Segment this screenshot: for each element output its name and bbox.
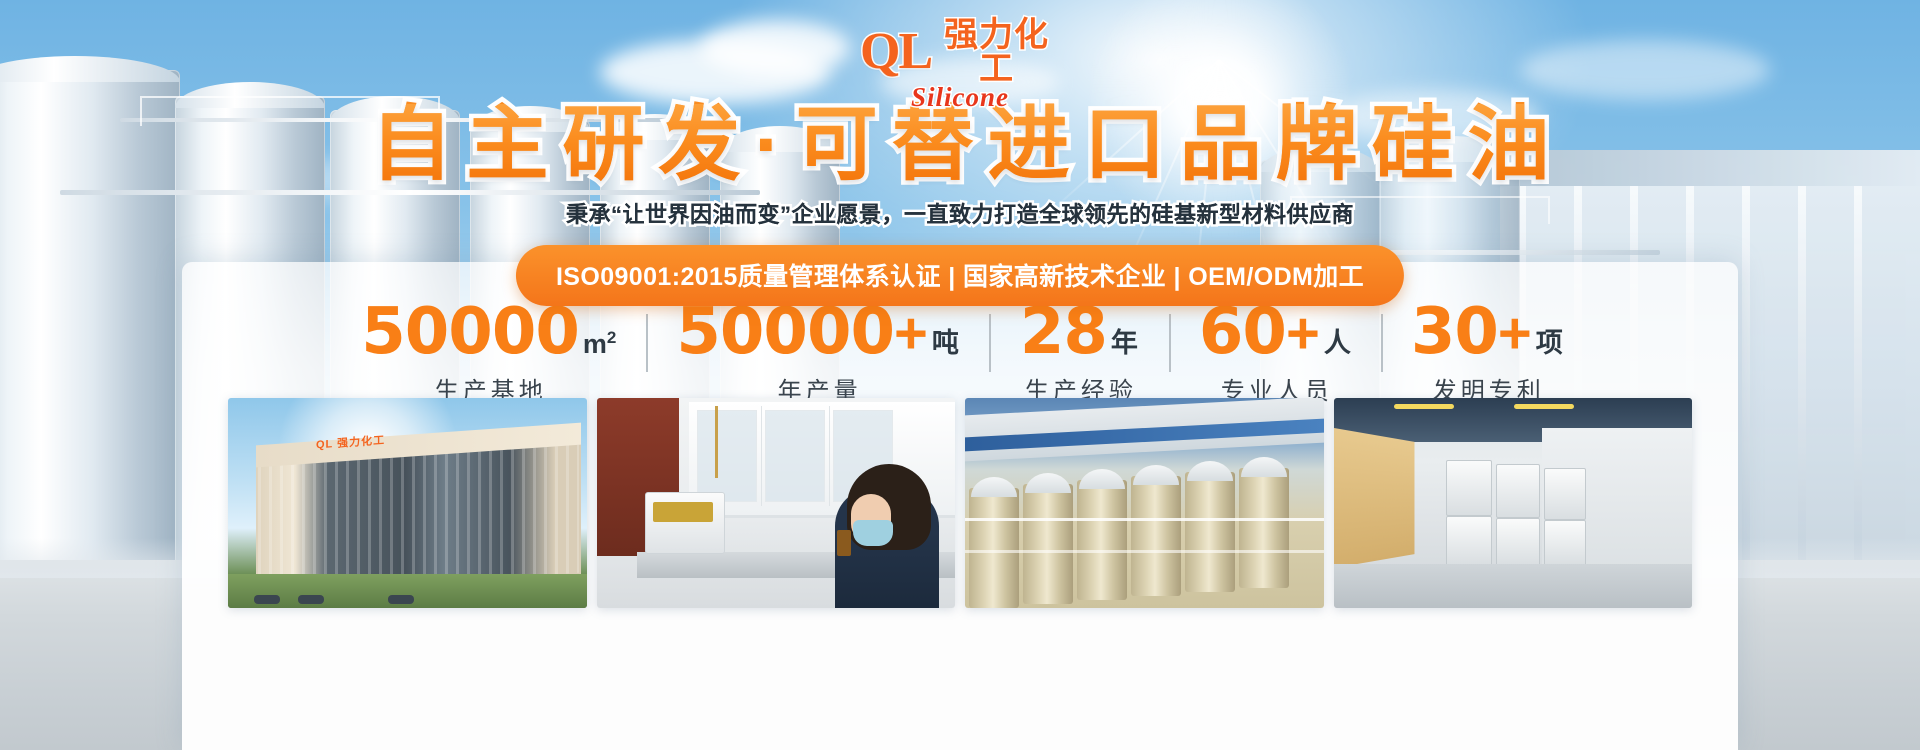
building-column <box>1742 186 1750 570</box>
stat-number: 50000 <box>676 300 894 364</box>
pipe <box>60 190 760 195</box>
office-building-photo[interactable]: QL 强力化工 <box>228 398 587 608</box>
stat-value-group: 28 年 <box>1020 300 1138 364</box>
process-tank <box>1023 484 1073 604</box>
logo-primary-row: QL 强力化工 <box>860 18 1060 86</box>
stat-value-group: 50000 m2 <box>361 300 616 364</box>
building-column <box>1798 186 1806 570</box>
stat-item-patents: 30 + 项 发明专利 <box>1381 300 1593 406</box>
stat-plus-sign: + <box>1286 305 1320 363</box>
service-walkway <box>965 550 1324 553</box>
pallet-stack-left <box>1334 428 1414 568</box>
stat-unit-superscript: 2 <box>607 328 616 347</box>
stat-value-group: 60 + 人 <box>1199 300 1351 364</box>
stat-number: 60 <box>1199 300 1286 364</box>
headline-stroke: 自主研发·可替进口品牌硅油 <box>0 104 1920 186</box>
stat-value-group: 50000 + 吨 <box>676 300 959 364</box>
ibc-tote <box>1446 460 1492 516</box>
company-logo[interactable]: QL 强力化工 Silicone <box>860 18 1060 104</box>
parked-car <box>388 595 414 604</box>
stat-value-group: 30 + 项 <box>1411 300 1563 364</box>
cabinet-divider <box>829 406 830 506</box>
logo-company-name-cn: 强力化工 <box>933 18 1060 86</box>
stat-item-production-base: 50000 m2 生产基地 <box>331 300 646 406</box>
cabinet-glass-pane <box>765 410 825 502</box>
subtitle-stroke: 秉承“让世界因油而变”企业愿景，一直致力打造全球领先的硅基新型材料供应商 <box>0 197 1920 229</box>
ibc-tote <box>1446 516 1492 566</box>
process-tank <box>969 488 1019 608</box>
ibc-tote <box>1544 520 1586 566</box>
stat-unit-base: m <box>583 329 607 359</box>
stat-item-staff: 60 + 人 专业人员 <box>1169 300 1381 406</box>
laboratory-testing-photo[interactable] <box>597 398 956 608</box>
process-tank <box>1077 480 1127 600</box>
stat-plus-sign: + <box>1498 305 1532 363</box>
logo-tagline-silicone: Silicone <box>860 82 1060 113</box>
stat-number: 50000 <box>361 300 579 364</box>
ibc-tote <box>1496 518 1540 566</box>
process-tank <box>1239 468 1289 588</box>
parked-car <box>298 595 324 604</box>
stat-number: 28 <box>1020 300 1107 364</box>
face-mask-icon <box>853 520 893 546</box>
cloud <box>1520 40 1770 100</box>
stat-item-annual-output: 50000 + 吨 年产量 <box>646 300 989 406</box>
ibc-tote <box>1496 464 1540 518</box>
stat-unit: 年 <box>1111 321 1138 364</box>
warehouse-storage-photo[interactable] <box>1334 398 1693 608</box>
stat-number: 30 <box>1411 300 1498 364</box>
stat-unit-base: 项 <box>1536 328 1563 358</box>
stat-unit: 人 <box>1324 321 1351 364</box>
stat-item-experience: 28 年 生产经验 <box>989 300 1169 406</box>
stat-unit-base: 人 <box>1324 328 1351 358</box>
stat-unit: 项 <box>1536 321 1563 364</box>
ceiling-light <box>1514 404 1574 409</box>
parked-car <box>254 595 280 604</box>
certification-badge[interactable]: ISO09001:2015质量管理体系认证 | 国家高新技术企业 | OEM/O… <box>516 245 1404 306</box>
promo-banner: QL 强力化工 Silicone 自主研发·可替进口品牌硅油 自主研发·可替进口… <box>0 0 1920 750</box>
lab-stand <box>715 406 718 478</box>
cloud <box>700 20 850 76</box>
stat-unit-base: 吨 <box>932 328 959 358</box>
photo-gallery: QL 强力化工 <box>228 398 1692 608</box>
reagent-bottle <box>837 530 851 556</box>
building-column <box>1854 186 1862 570</box>
cabinet-divider <box>761 406 762 506</box>
process-tank <box>1185 472 1235 592</box>
stat-unit: 吨 <box>932 321 959 364</box>
warehouse-floor <box>1334 564 1693 608</box>
stats-row: 50000 m2 生产基地 50000 + 吨 年产量 28 <box>222 300 1702 400</box>
cabinet-glass-pane <box>697 410 757 502</box>
ibc-tote <box>1544 468 1586 520</box>
logo-mark-ql: QL <box>860 27 931 76</box>
production-tank-farm-photo[interactable] <box>965 398 1324 608</box>
instrument-display <box>653 502 713 522</box>
stat-plus-sign: + <box>894 305 928 363</box>
stat-unit: m2 <box>583 328 616 364</box>
process-tank <box>1131 476 1181 596</box>
ceiling-light <box>1394 404 1454 409</box>
building-windows <box>258 445 579 595</box>
stat-unit-base: 年 <box>1111 328 1138 358</box>
service-walkway <box>965 518 1324 521</box>
